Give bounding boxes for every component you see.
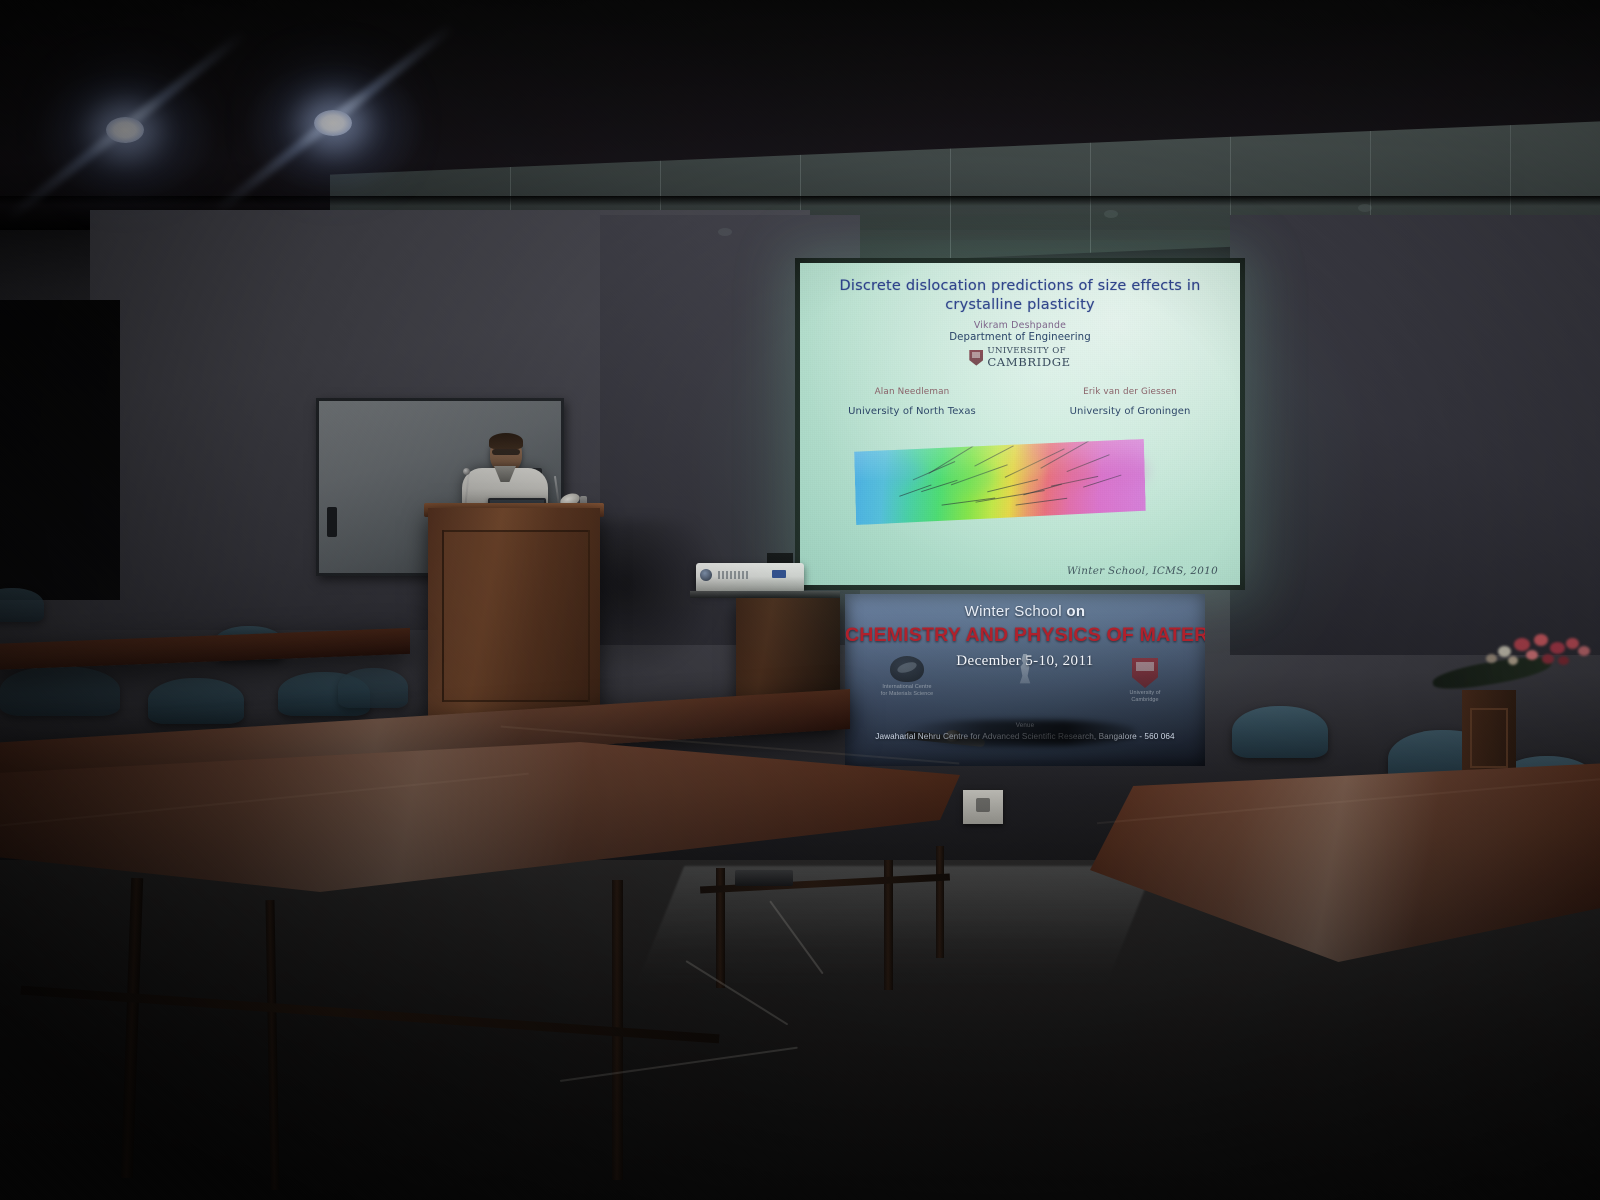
projector-panel	[772, 570, 786, 578]
podium	[428, 508, 600, 720]
coauthor-left-name: Alan Needleman	[822, 387, 1002, 397]
flower	[1508, 656, 1518, 665]
flower	[1498, 646, 1511, 657]
coauthor-right-affiliation: University of Groningen	[1040, 406, 1220, 417]
banner-occlusion-shadow	[905, 720, 1135, 746]
microphone-head	[463, 468, 470, 475]
cambridge-crest-icon	[969, 350, 983, 366]
speaker-glasses	[492, 449, 520, 455]
projector-shelf	[690, 591, 840, 598]
flower	[1566, 638, 1579, 649]
slide-footer: Winter School, ICMS, 2010	[1067, 565, 1218, 577]
flower	[1578, 646, 1590, 656]
floral-arrangement	[1430, 632, 1590, 702]
slide-title: Discrete dislocation predictions of size…	[824, 277, 1216, 315]
coauthor-left: Alan Needleman University of North Texas	[822, 387, 1002, 417]
flower	[1550, 642, 1565, 654]
ceiling-vent	[1104, 210, 1118, 218]
cambridge-logo-text: UNIVERSITY OF CAMBRIDGE	[987, 347, 1070, 368]
light-core	[106, 117, 144, 143]
banner-line1-prefix: Winter School	[965, 603, 1062, 620]
banner-content: Winter School on CHEMISTRY AND PHYSICS O…	[845, 594, 1205, 670]
coauthor-right-name: Erik van der Giessen	[1040, 387, 1220, 397]
right-wall	[1230, 215, 1600, 655]
table-leg	[936, 846, 944, 958]
ceiling-vent	[718, 228, 732, 236]
chair	[1232, 706, 1328, 758]
projection-screen: Discrete dislocation predictions of size…	[800, 263, 1240, 585]
chair	[148, 678, 244, 724]
banner-title: CHEMISTRY AND PHYSICS OF MATERIALS	[845, 624, 1205, 647]
banner-line1-suffix: on	[1066, 603, 1085, 620]
floor-light-patch	[636, 866, 1154, 986]
cambridge-logo-caption: University ofCambridge	[1107, 690, 1183, 704]
podium-front-panel	[442, 530, 590, 702]
banner-dates: December 5-10, 2011	[845, 653, 1205, 670]
whiteboard-marker-holder	[327, 507, 337, 537]
left-wall-recess	[0, 300, 120, 600]
projector-vent	[718, 571, 748, 579]
projector	[696, 563, 804, 593]
ceiling-vent	[1358, 204, 1372, 212]
power-strip	[735, 870, 793, 886]
chair	[338, 668, 408, 708]
light-core	[314, 110, 352, 136]
flower	[1486, 654, 1497, 663]
lecture-hall-photo: Discrete dislocation predictions of size…	[0, 0, 1600, 1200]
flower	[1514, 638, 1530, 651]
flower	[1526, 650, 1538, 660]
chair	[0, 666, 120, 716]
conference-banner: Winter School on CHEMISTRY AND PHYSICS O…	[845, 594, 1205, 766]
icms-logo-caption: International Centrefor Materials Scienc…	[869, 684, 945, 698]
coauthor-right: Erik van der Giessen University of Groni…	[1040, 387, 1220, 417]
table-placard	[963, 790, 1003, 824]
projector-lens-icon	[700, 569, 712, 581]
flower-stand	[1462, 690, 1516, 776]
flower	[1558, 656, 1569, 665]
coauthor-left-affiliation: University of North Texas	[822, 406, 1002, 417]
cambridge-logo: UNIVERSITY OF CAMBRIDGE	[800, 347, 1240, 368]
flower	[1534, 634, 1548, 646]
slide-presenter-name: Vikram Deshpande	[800, 320, 1240, 331]
speaker-hair	[489, 433, 523, 449]
cambridge-line2: CAMBRIDGE	[987, 356, 1070, 368]
dislocation-field-figure	[854, 439, 1146, 525]
banner-line1: Winter School on	[845, 603, 1205, 620]
flower	[1542, 654, 1554, 664]
slide-department: Department of Engineering	[800, 332, 1240, 343]
